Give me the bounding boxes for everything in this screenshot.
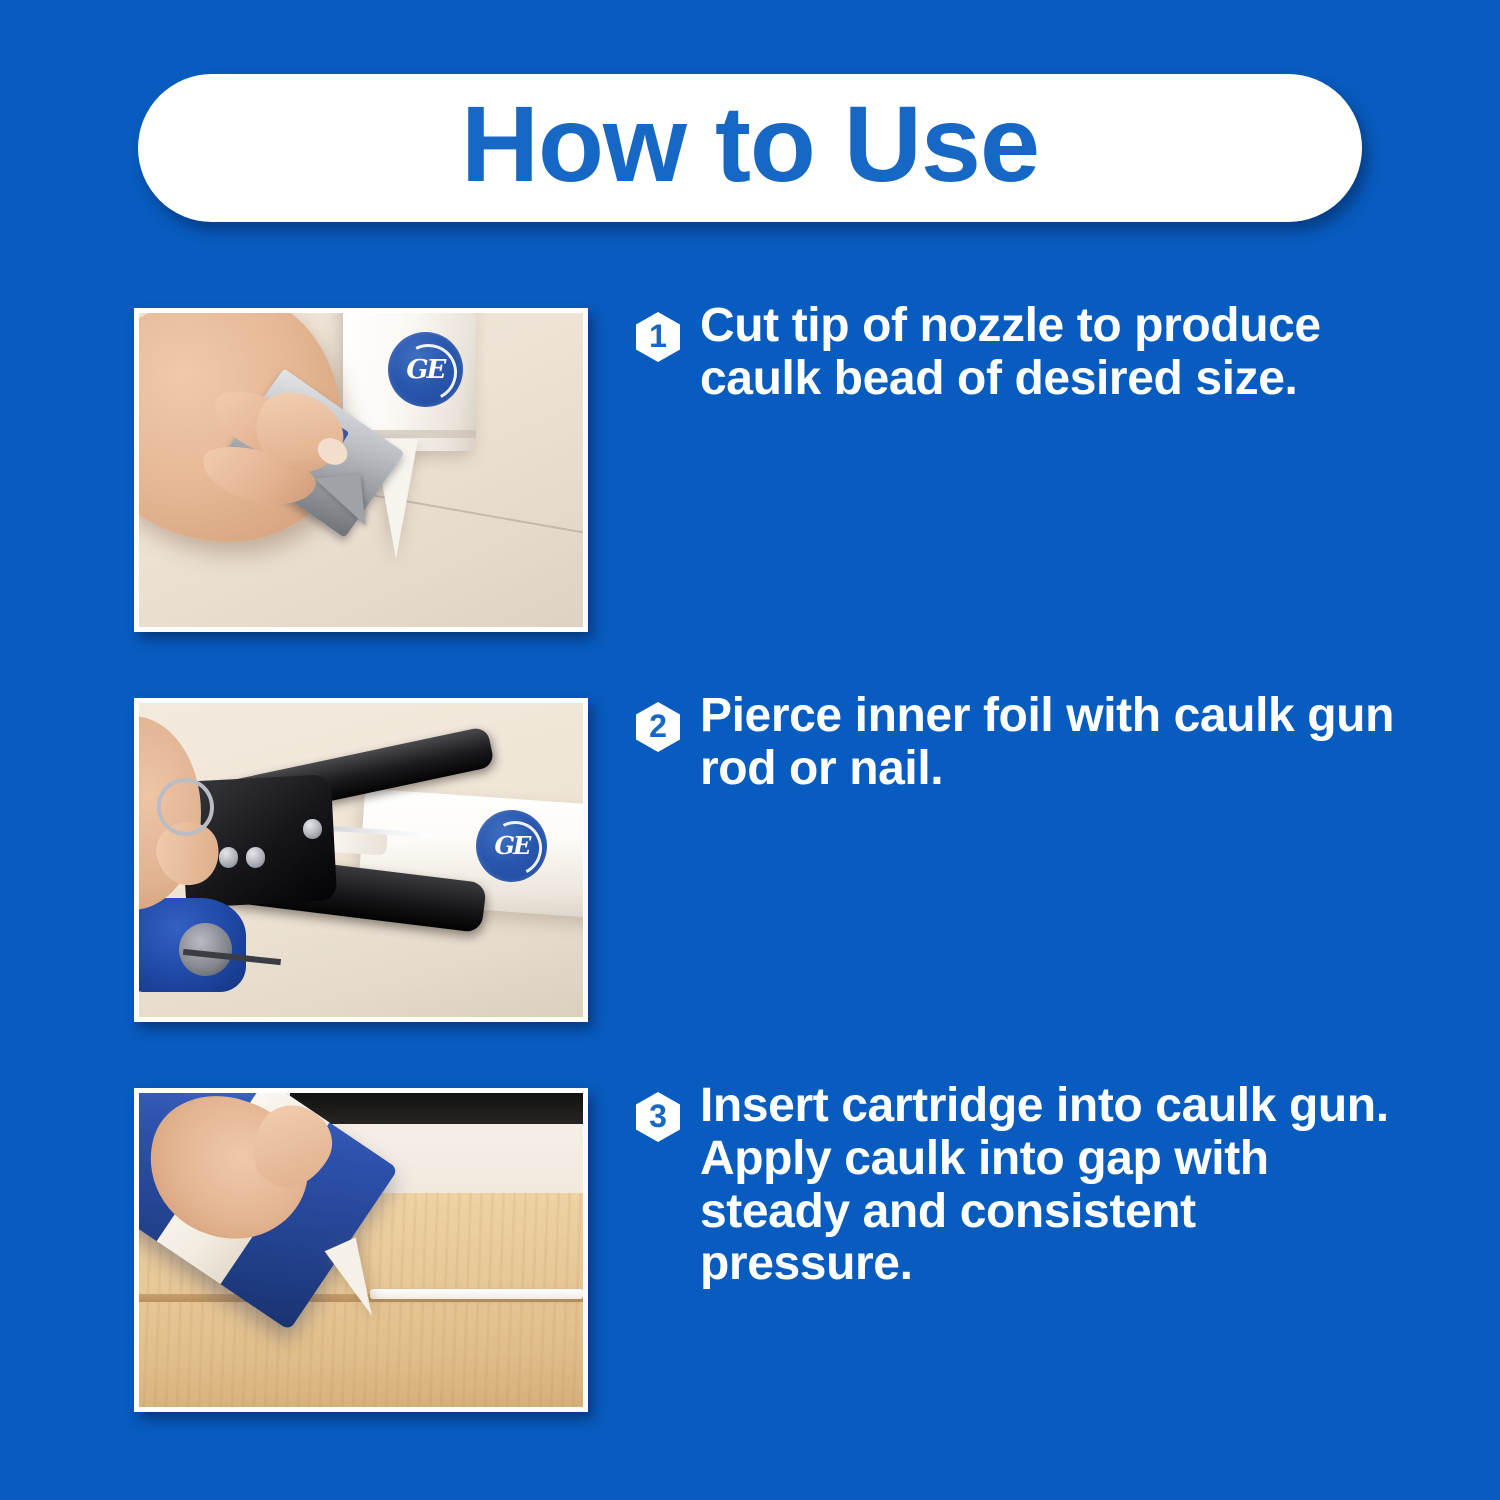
page-title-pill: How to Use [138,74,1362,222]
step-instruction: Cut tip of nozzle to produce caulk bead … [700,300,1420,406]
page-title: How to Use [461,90,1039,206]
step-text-block: 1 Cut tip of nozzle to produce caulk bea… [636,300,1436,406]
step-number: 3 [649,1100,667,1134]
caulk-bead [370,1289,583,1299]
ge-logo: GE [476,810,547,882]
rivet [219,847,239,867]
step-number-badge: 3 [636,1092,680,1142]
step-number-badge: 2 [636,702,680,752]
step-text-block: 3 Insert cartridge into caulk gun. Apply… [636,1080,1436,1291]
step-photo-pierce-foil: GE [139,703,583,1017]
step-instruction: Insert cartridge into caulk gun. Apply c… [700,1080,1420,1291]
dark-gap-band [290,1093,583,1124]
step-photo-frame: GE [134,1088,588,1412]
ge-logo-mark: GE [476,810,547,882]
step-number: 2 [649,710,667,744]
rivet [246,847,266,867]
step-photo-apply-caulk: GE [139,1093,583,1407]
step-number: 1 [649,320,667,354]
step-photo-frame: GE [134,308,588,632]
ge-logo: GE [388,332,463,407]
step-text-block: 2 Pierce inner foil with caulk gun rod o… [636,690,1436,796]
step-photo-cut-nozzle: GE [139,313,583,627]
step-photo-frame: GE [134,698,588,1022]
knife-blade [314,474,365,531]
rivet [303,819,322,838]
step-instruction: Pierce inner foil with caulk gun rod or … [700,690,1420,796]
step-number-badge: 1 [636,312,680,362]
ge-logo-mark: GE [388,332,463,407]
